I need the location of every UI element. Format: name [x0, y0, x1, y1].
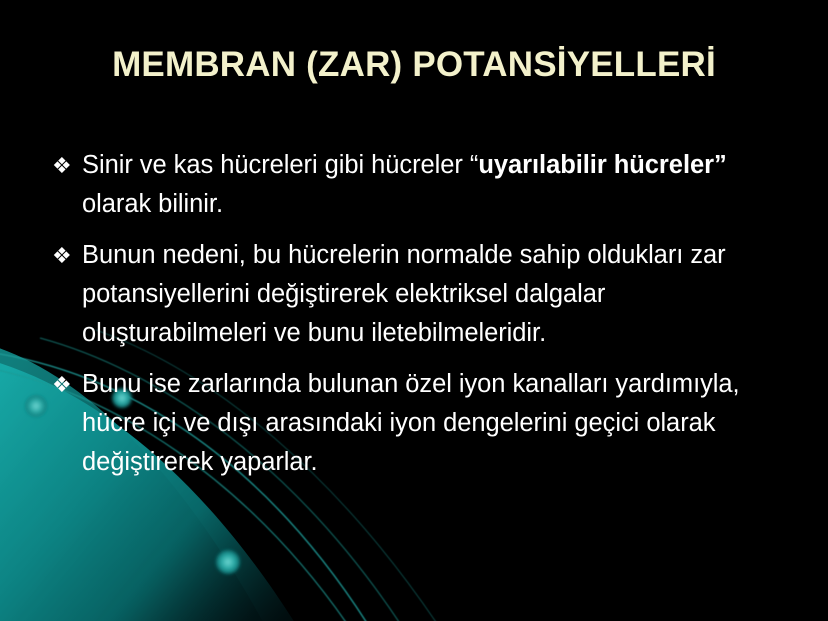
list-item: ❖ Bunu ise zarlarında bulunan özel iyon … — [50, 365, 792, 482]
list-item-text: Sinir ve kas hücreleri gibi hücreler “uy… — [82, 151, 727, 218]
list-item: ❖ Sinir ve kas hücreleri gibi hücreler “… — [50, 146, 792, 224]
diamond-bullet-icon: ❖ — [52, 236, 72, 275]
page-title: MEMBRAN (ZAR) POTANSİYELLERİ — [112, 46, 716, 85]
list-item-text: Bunun nedeni, bu hücrelerin normalde sah… — [82, 241, 726, 347]
slide-canvas: MEMBRAN (ZAR) POTANSİYELLERİ ❖ Sinir ve … — [0, 0, 828, 621]
diamond-bullet-icon: ❖ — [52, 365, 72, 404]
title-block: MEMBRAN (ZAR) POTANSİYELLERİ — [0, 46, 828, 85]
bullet-list: ❖ Sinir ve kas hücreleri gibi hücreler “… — [50, 146, 792, 482]
decorative-node — [25, 395, 47, 417]
decorative-node — [216, 550, 240, 574]
diamond-bullet-icon: ❖ — [52, 146, 72, 185]
list-item: ❖ Bunun nedeni, bu hücrelerin normalde s… — [50, 236, 792, 353]
list-item-text: Bunu ise zarlarında bulunan özel iyon ka… — [82, 370, 740, 476]
